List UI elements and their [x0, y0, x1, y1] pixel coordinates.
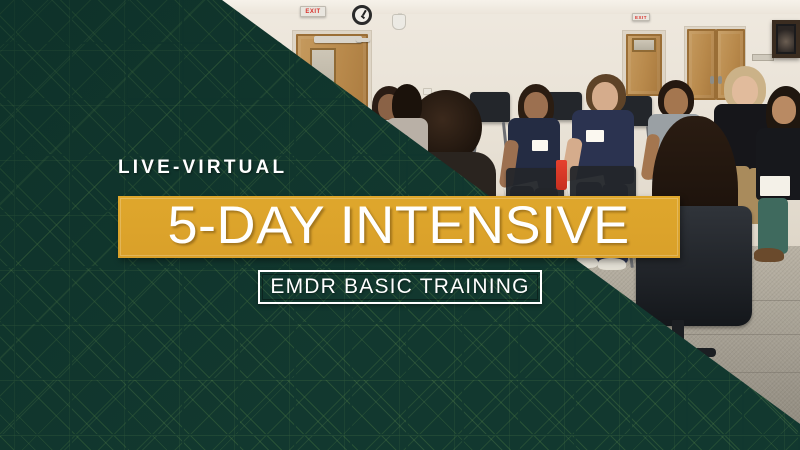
- door-closer-arm-left: [356, 38, 370, 42]
- door-handle-a: [710, 76, 714, 84]
- door-closer-left: [314, 36, 362, 43]
- subtitle-text: EMDR BASIC TRAINING: [270, 275, 529, 299]
- water-bottle: [556, 160, 567, 190]
- kicker-text: LIVE-VIRTUAL: [118, 157, 287, 179]
- security-camera: [392, 14, 406, 30]
- promo-banner-image: EXIT EXIT: [0, 0, 800, 450]
- exit-sign-left: EXIT: [300, 6, 326, 17]
- door-window-right-single: [632, 38, 656, 52]
- framed-photo: [772, 20, 800, 58]
- subtitle-box: EMDR BASIC TRAINING: [258, 270, 542, 304]
- wall-clock: [352, 5, 372, 25]
- door-plaque: [752, 54, 774, 61]
- door-handle-b: [718, 76, 722, 84]
- headline-banner: 5-DAY INTENSIVE: [118, 196, 680, 258]
- exit-sign-right: EXIT: [632, 13, 650, 21]
- headline-text: 5-DAY INTENSIVE: [168, 199, 630, 255]
